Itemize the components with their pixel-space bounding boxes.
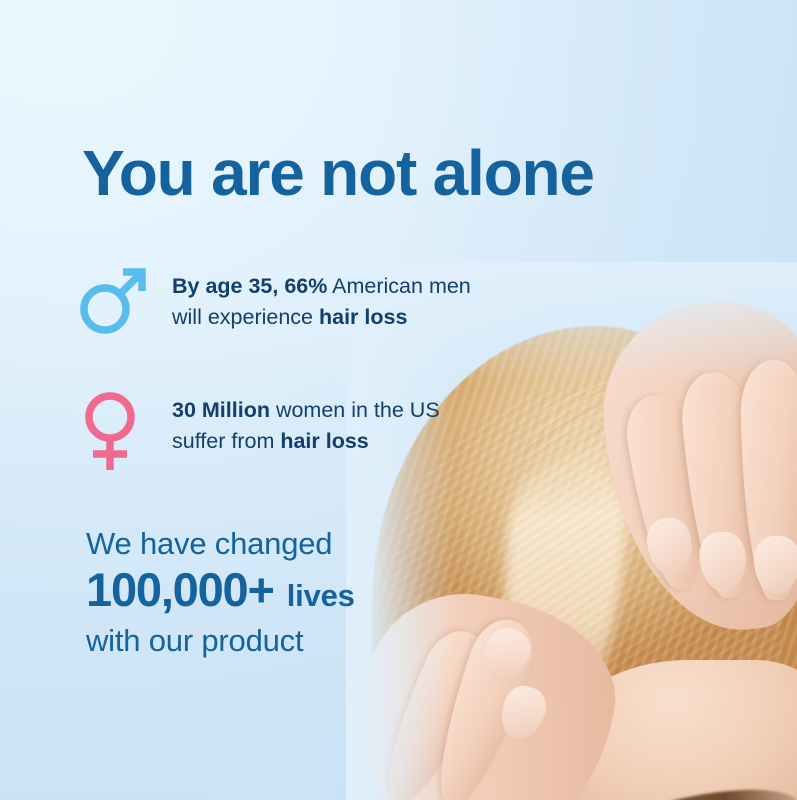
stat-text-women: 30 Million women in the US suffer from h… bbox=[172, 386, 440, 456]
stat-women-line2-highlight: hair loss bbox=[280, 429, 368, 453]
lives-line-2: 100,000+ lives bbox=[86, 565, 355, 616]
lives-count: 100,000+ bbox=[86, 565, 274, 616]
stat-men-line1-rest: American men bbox=[327, 274, 470, 298]
lives-changed-block: We have changed 100,000+ lives with our … bbox=[86, 525, 355, 659]
lives-unit: lives bbox=[287, 579, 355, 612]
page-title: You are not alone bbox=[82, 140, 594, 207]
stat-men-line2-rest: will experience bbox=[172, 305, 319, 329]
stat-women-highlight: 30 Million bbox=[172, 398, 270, 422]
stat-row-men: By age 35, 66% American men will experie… bbox=[76, 262, 471, 338]
stat-women-line1-rest: women in the US bbox=[270, 398, 440, 422]
female-gender-symbol-icon bbox=[76, 386, 172, 474]
stat-men-line2-highlight: hair loss bbox=[319, 305, 407, 329]
male-gender-symbol-icon bbox=[76, 262, 172, 338]
lives-line-3: with our product bbox=[86, 622, 355, 660]
stat-women-line2-rest: suffer from bbox=[172, 429, 280, 453]
stat-row-women: 30 Million women in the US suffer from h… bbox=[76, 386, 440, 474]
promo-poster: You are not alone By age 35, 66% America… bbox=[0, 0, 797, 800]
stat-text-men: By age 35, 66% American men will experie… bbox=[172, 262, 471, 332]
hero-photo bbox=[352, 268, 797, 800]
lives-line-1: We have changed bbox=[86, 525, 355, 563]
stat-men-highlight: By age 35, 66% bbox=[172, 274, 327, 298]
